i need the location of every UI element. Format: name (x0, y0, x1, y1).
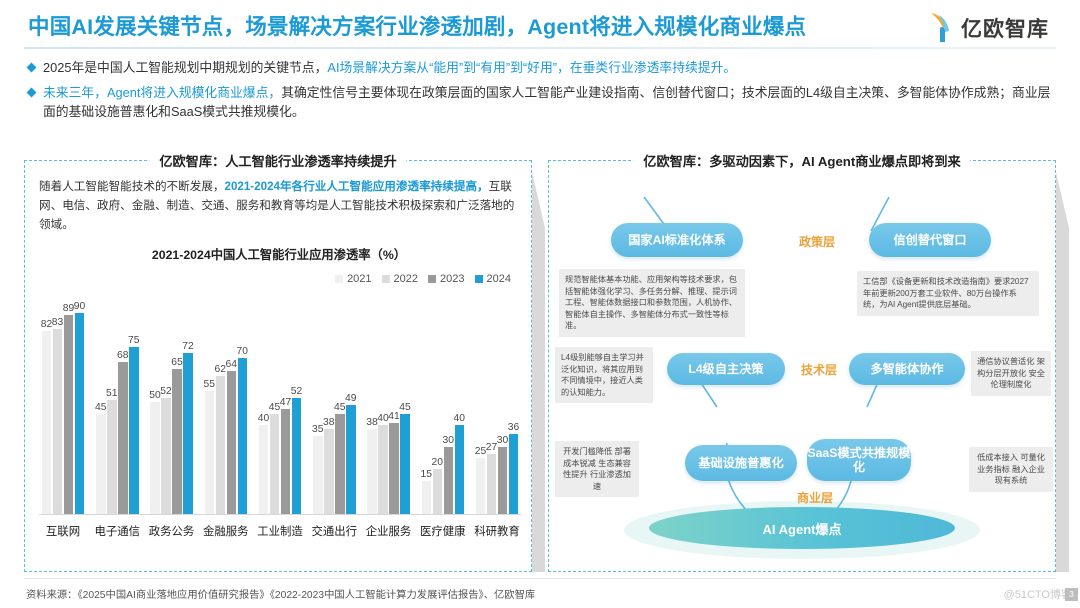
bar-value-label: 89 (63, 303, 74, 314)
bar-value-label: 70 (237, 346, 248, 357)
note-policy-right: 工信部《设备更新和技术改造指南》要求2027年前更新200万套工业软件、80万台… (857, 271, 1039, 316)
watermark: @51CTO博客 (1004, 586, 1072, 602)
node-multi-agent-collab[interactable]: 多智能体协作 (849, 353, 965, 385)
chart-legend: 2021202220232024 (335, 273, 511, 285)
x-label-交通出行: 交通出行 (310, 523, 358, 539)
bar-电子通信-2022: 51 (107, 400, 117, 514)
x-label-医疗健康: 医疗健康 (419, 523, 467, 539)
bar-group-医疗健康: 15203040 (419, 302, 467, 514)
bar-政务公务-2022: 52 (161, 398, 171, 514)
page-title: 中国AI发展关键节点，场景解决方案行业渗透加剧，Agent将进入规模化商业爆点 (28, 10, 806, 41)
legend-swatch-2021 (335, 275, 343, 283)
bar-value-label: 36 (508, 422, 519, 433)
agent-driver-diagram: 国家AI标准化体系 政策层 信创替代窗口 规范智能体基本功能、应用架构等技术要求… (549, 175, 1057, 573)
note-biz-left: 开发门槛降低 部署成本锐减 生态兼容性提升 行业渗透加速 (555, 441, 639, 497)
page-number: 3 (1065, 588, 1078, 601)
legend-item-2022: 2022 (382, 273, 418, 285)
note-tech-right: 通信协议普适化 架构分层开放化 安全伦理制度化 (971, 351, 1051, 396)
bar-value-label: 72 (182, 341, 193, 352)
bar-金融服务-2023: 64 (227, 371, 237, 514)
bar-value-label: 82 (41, 319, 52, 330)
left-panel-intro: 随着人工智能智能技术的不断发展，2021-2024年各行业人工智能应用渗透率持续… (39, 177, 519, 234)
bar-value-label: 75 (128, 335, 139, 346)
x-label-互联网: 互联网 (39, 523, 87, 539)
bar-互联网-2021: 82 (42, 331, 52, 514)
bar-groups: 8283899045516875505265725562647040454752… (39, 302, 521, 514)
bar-value-label: 52 (291, 386, 302, 397)
logo-sprout-icon (928, 11, 958, 43)
layer-label-business: 商业层 (797, 489, 833, 506)
bar-value-label: 83 (52, 317, 63, 328)
bar-value-label: 47 (280, 397, 291, 408)
intro-part-1: 随着人工智能智能技术的不断发展， (39, 180, 225, 193)
node-xinchuang-window[interactable]: 信创替代窗口 (869, 223, 991, 257)
bar-value-label: 38 (323, 417, 334, 428)
node-national-ai-standard[interactable]: 国家AI标准化体系 (611, 223, 743, 257)
bullet-text-2: 未来三年，Agent将进入规模化商业爆点，其确定性信号主要体现在政策层面的国家人… (43, 83, 1056, 121)
bar-金融服务-2024: 70 (238, 358, 248, 514)
bullet-2-part-1: 未来三年，Agent将进入规模化商业爆点， (43, 85, 281, 100)
legend-swatch-2024 (475, 275, 483, 283)
slide-page: 中国AI发展关键节点，场景解决方案行业渗透加剧，Agent将进入规模化商业爆点 … (0, 0, 1080, 608)
bar-工业制造-2024: 52 (292, 398, 302, 514)
right-panel-title: 亿欧智库：多驱动因素下，AI Agent商业爆点即将到来 (633, 151, 970, 170)
bar-group-电子通信: 45516875 (93, 302, 141, 514)
bar-value-label: 40 (258, 413, 269, 424)
bar-互联网-2022: 83 (53, 329, 63, 514)
x-label-政务公务: 政务公务 (148, 523, 196, 539)
legend-label-2022: 2022 (394, 273, 418, 285)
bar-group-政务公务: 50526572 (148, 302, 196, 514)
bullet-1-part-2: AI场景解决方案从“能用”到“有用”到“好用”，在垂类行业渗透率持续提升。 (327, 60, 736, 75)
bar-value-label: 55 (204, 379, 215, 390)
bullet-1-part-1: 2025年是中国人工智能规划中期规划的关键节点， (43, 60, 327, 75)
bar-value-label: 50 (149, 390, 160, 401)
x-label-电子通信: 电子通信 (93, 523, 141, 539)
bar-value-label: 40 (377, 413, 388, 424)
bar-交通出行-2024: 49 (346, 405, 356, 514)
bar-科研教育-2023: 30 (498, 447, 508, 514)
bar-医疗健康-2023: 30 (444, 447, 454, 514)
bar-政务公务-2024: 72 (183, 353, 193, 514)
core-node-ai-agent[interactable]: AI Agent爆点 (649, 507, 955, 549)
bar-医疗健康-2024: 40 (455, 425, 465, 514)
footer-divider (24, 578, 1056, 579)
right-panel: 亿欧智库：多驱动因素下，AI Agent商业爆点即将到来 国家AI标准化体系 政… (548, 160, 1056, 572)
bar-电子通信-2023: 68 (118, 362, 128, 514)
bar-医疗健康-2022: 20 (433, 469, 443, 514)
legend-item-2024: 2024 (475, 273, 511, 285)
x-label-金融服务: 金融服务 (202, 523, 250, 539)
bar-value-label: 20 (432, 457, 443, 468)
bar-value-label: 30 (497, 435, 508, 446)
note-biz-right: 低成本接入 可量化业务指标 融入企业现有系统 (969, 447, 1053, 492)
right-panel-shadow (1056, 172, 1069, 572)
bar-value-label: 15 (421, 469, 432, 480)
bar-政务公务-2021: 50 (150, 402, 160, 514)
x-label-工业制造: 工业制造 (256, 523, 304, 539)
legend-label-2021: 2021 (347, 273, 371, 285)
bar-科研教育-2024: 36 (509, 434, 519, 514)
legend-label-2023: 2023 (440, 273, 464, 285)
bar-value-label: 25 (475, 446, 486, 457)
bar-value-label: 64 (226, 359, 237, 370)
bar-value-label: 68 (117, 350, 128, 361)
bar-value-label: 30 (443, 435, 454, 446)
legend-swatch-2023 (428, 275, 436, 283)
bar-企业服务-2021: 38 (367, 429, 377, 514)
node-infrastructure-inclusive[interactable]: 基础设施普惠化 (685, 445, 797, 481)
intro-part-2: 2021-2024年各行业人工智能应用渗透率持续提高， (225, 180, 489, 193)
bar-value-label: 40 (454, 413, 465, 424)
left-panel-shadow (532, 172, 545, 572)
bar-chart-plot: 8283899045516875505265725562647040454752… (39, 297, 521, 541)
diamond-bullet-icon (27, 88, 37, 98)
bar-group-工业制造: 40454752 (256, 302, 304, 514)
diamond-bullet-icon (27, 63, 37, 73)
bar-政务公务-2023: 65 (172, 369, 182, 514)
left-panel: 亿欧智库：人工智能行业渗透率持续提升 随着人工智能智能技术的不断发展，2021-… (24, 160, 532, 572)
bar-group-企业服务: 38404145 (365, 302, 413, 514)
node-saas-scale[interactable]: SaaS模式共推规模化 (807, 439, 911, 481)
bullet-list: 2025年是中国人工智能规划中期规划的关键节点，AI场景解决方案从“能用”到“有… (26, 58, 1056, 127)
bar-互联网-2024: 90 (75, 313, 85, 514)
x-axis-line (39, 514, 521, 515)
bar-value-label: 52 (160, 386, 171, 397)
chart-title: 2021-2024中国人工智能行业应用渗透率（%） (25, 245, 533, 263)
bar-group-科研教育: 25273036 (473, 302, 521, 514)
layer-label-policy: 政策层 (799, 233, 835, 250)
bar-交通出行-2023: 45 (335, 414, 345, 514)
left-panel-title: 亿欧智库：人工智能行业渗透率持续提升 (149, 151, 406, 170)
bar-工业制造-2021: 40 (259, 425, 269, 514)
bar-value-label: 35 (312, 424, 323, 435)
bar-group-金融服务: 55626470 (202, 302, 250, 514)
header-divider (24, 47, 1056, 49)
source-note: 资料来源：《2025中国AI商业落地应用价值研究报告》《2022-2023中国人… (26, 586, 535, 601)
bar-科研教育-2021: 25 (476, 458, 486, 514)
logo-text: 亿欧智库 (961, 13, 1049, 43)
note-tech-left: L4级别能够自主学习并泛化知识，将其应用到不同情境中，接近人类的认知能力。 (555, 347, 653, 403)
node-l4-autonomous-decision[interactable]: L4级自主决策 (667, 353, 785, 385)
bar-value-label: 41 (388, 411, 399, 422)
bar-value-label: 62 (215, 364, 226, 375)
x-axis-labels: 互联网电子通信政务公务金融服务工业制造交通出行企业服务医疗健康科研教育 (39, 523, 521, 539)
bar-电子通信-2024: 75 (129, 347, 139, 514)
bar-金融服务-2022: 62 (216, 376, 226, 514)
bar-互联网-2023: 89 (64, 315, 74, 514)
layer-label-tech: 技术层 (801, 361, 837, 378)
bar-value-label: 45 (269, 402, 280, 413)
bar-value-label: 27 (486, 442, 497, 453)
bar-value-label: 45 (334, 402, 345, 413)
bar-医疗健康-2021: 15 (422, 481, 432, 514)
bar-企业服务-2023: 41 (389, 423, 399, 514)
bar-value-label: 65 (171, 357, 182, 368)
legend-item-2021: 2021 (335, 273, 371, 285)
header: 中国AI发展关键节点，场景解决方案行业渗透加剧，Agent将进入规模化商业爆点 … (0, 0, 1080, 48)
bar-value-label: 45 (95, 402, 106, 413)
bar-交通出行-2022: 38 (324, 429, 334, 514)
bar-企业服务-2022: 40 (378, 425, 388, 514)
bar-工业制造-2022: 45 (270, 414, 280, 514)
bar-value-label: 49 (345, 393, 356, 404)
bullet-text-1: 2025年是中国人工智能规划中期规划的关键节点，AI场景解决方案从“能用”到“有… (43, 58, 1056, 77)
bar-科研教育-2022: 27 (487, 454, 497, 514)
bar-value-label: 90 (74, 301, 85, 312)
bullet-item-1: 2025年是中国人工智能规划中期规划的关键节点，AI场景解决方案从“能用”到“有… (26, 58, 1056, 77)
x-label-科研教育: 科研教育 (473, 523, 521, 539)
bullet-item-2: 未来三年，Agent将进入规模化商业爆点，其确定性信号主要体现在政策层面的国家人… (26, 83, 1056, 121)
bar-工业制造-2023: 47 (281, 409, 291, 514)
bar-电子通信-2021: 45 (96, 414, 106, 514)
bar-value-label: 45 (399, 402, 410, 413)
legend-label-2024: 2024 (487, 273, 511, 285)
bar-金融服务-2021: 55 (205, 391, 215, 514)
bar-交通出行-2021: 35 (313, 436, 323, 514)
bar-value-label: 51 (106, 388, 117, 399)
x-label-企业服务: 企业服务 (365, 523, 413, 539)
legend-item-2023: 2023 (428, 273, 464, 285)
brand-logo: 亿欧智库 (928, 8, 1056, 46)
bar-group-交通出行: 35384549 (310, 302, 358, 514)
bar-企业服务-2024: 45 (400, 414, 410, 514)
legend-swatch-2022 (382, 275, 390, 283)
bar-value-label: 38 (366, 417, 377, 428)
note-policy-left: 规范智能体基本功能、应用架构等技术要求，包括智能体强化学习、多任务分解、推理、提… (559, 269, 745, 337)
bar-group-互联网: 82838990 (39, 302, 87, 514)
